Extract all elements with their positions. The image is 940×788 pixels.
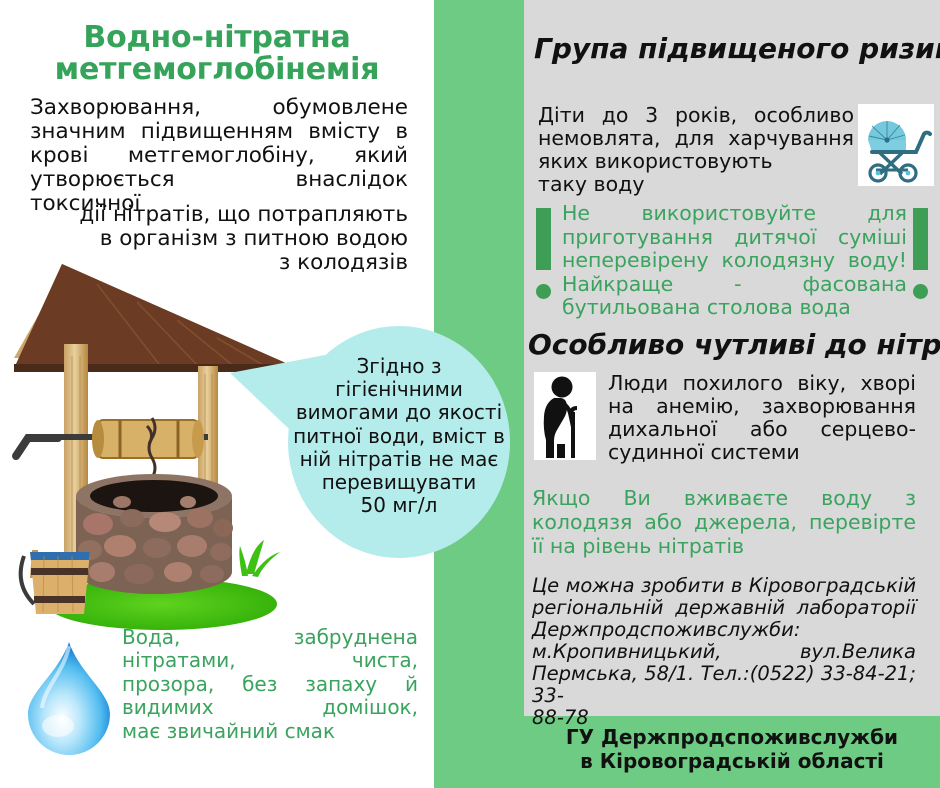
exclamation-dot (913, 284, 928, 299)
intro-line: в організм з питною водою (30, 227, 408, 251)
check-line: колодязя або джерела, перевірте (532, 511, 916, 535)
elderly-person-with-cane-icon (534, 372, 596, 460)
footer-line: в Кіровоградській області (524, 750, 940, 774)
bubble-line: 50 мг/л (292, 494, 506, 517)
sensitive-group-description: Люди похилого віку, хворі на анемію, зах… (608, 372, 916, 464)
note-line: прозора, без запаху й (122, 673, 418, 696)
exclamation-mark-right-icon (913, 208, 928, 299)
risk-line: яких використовують (538, 150, 854, 173)
intro-paragraph-1: Захворювання, обумовлене значним підвище… (30, 96, 408, 216)
sensitive-line: судинної системи (608, 441, 916, 464)
intro-line: Захворювання, обумовлене (30, 96, 408, 120)
check-line: її на рівень нітратів (532, 535, 916, 559)
water-drop-illustration (14, 634, 124, 759)
note-line: має звичайний смак (122, 720, 418, 743)
warning-callout-text: Не використовуйте для приготування дитяч… (562, 202, 907, 320)
page-title-line-2: метгемоглобінемія (10, 54, 424, 86)
footer-line: ГУ Держпродспоживслужби (524, 726, 940, 750)
warning-callout: Не використовуйте для приготування дитяч… (524, 200, 940, 318)
exclamation-bar (536, 208, 551, 270)
clean-water-note: Вода, забруднена нітратами, чиста, прозо… (122, 626, 418, 743)
exclamation-mark-left-icon (536, 208, 551, 299)
note-line: видимих домішок, (122, 696, 418, 719)
laboratory-contact-info: Це можна зробити в Кіровоградській регіо… (532, 575, 916, 729)
bubble-line: ній нітратів не має (292, 448, 506, 471)
footer-organization: ГУ Держпродспоживслужби в Кіровоградські… (524, 726, 940, 773)
infographic-poster: Водно-нітратна метгемоглобінемія Захворю… (0, 0, 940, 788)
page-title-line-1: Водно-нітратна (10, 22, 424, 54)
lab-line: Це можна зробити в Кіровоградській (532, 575, 916, 597)
speech-bubble-text: Згідно з гігієнічними вимогами до якості… (292, 355, 506, 517)
exclamation-dot (536, 284, 551, 299)
callout-line: бутильована столова вода (562, 296, 907, 320)
risk-line: немовлята, для харчування (538, 127, 854, 150)
bubble-line: питної води, вміст в (292, 425, 506, 448)
intro-line: крові метгемоглобіну, який (30, 144, 408, 168)
intro-line: дії нітратів, що потрапляють (30, 203, 408, 227)
page-title: Водно-нітратна метгемоглобінемія (10, 22, 424, 87)
heading-risk-group: Група підвищеного ризику: (534, 34, 940, 63)
note-line: нітратами, чиста, (122, 649, 418, 672)
bubble-line: Згідно з (292, 355, 506, 378)
lab-line: регіональній державній лабораторії (532, 597, 916, 619)
risk-group-description: Діти до 3 років, особливо немовлята, для… (538, 104, 854, 196)
check-nitrates-advice: Якщо Ви вживаєте воду з колодязя або дже… (532, 487, 916, 558)
sensitive-line: на анемію, захворювання (608, 395, 916, 418)
intro-line: значним підвищенням вмісту в (30, 120, 408, 144)
bubble-line: гігієнічними (292, 378, 506, 401)
risk-line: таку воду (538, 173, 854, 196)
sensitive-line: дихальної або серцево- (608, 418, 916, 441)
callout-line: неперевірену колодязну воду! (562, 249, 907, 273)
lab-line: м.Кропивницький, вул.Велика (532, 641, 916, 663)
check-line: Якщо Ви вживаєте воду з (532, 487, 916, 511)
sensitive-line: Люди похилого віку, хворі (608, 372, 916, 395)
heading-sensitive-group: Особливо чутливі до нітратів: (528, 330, 940, 359)
callout-line: приготування дитячої суміші (562, 226, 907, 250)
callout-line: Не використовуйте для (562, 202, 907, 226)
bubble-line: вимогами до якості (292, 401, 506, 424)
risk-line: Діти до 3 років, особливо (538, 104, 854, 127)
note-line: Вода, забруднена (122, 626, 418, 649)
baby-pram-icon (858, 104, 934, 186)
callout-line: Найкраще - фасована (562, 273, 907, 297)
lab-line: Держпродспоживслужби: (532, 619, 916, 641)
lab-line: Пермська, 58/1. Тел.:(0522) 33-84-21; 33… (532, 663, 916, 707)
exclamation-bar (913, 208, 928, 270)
bubble-line: перевищувати (292, 471, 506, 494)
